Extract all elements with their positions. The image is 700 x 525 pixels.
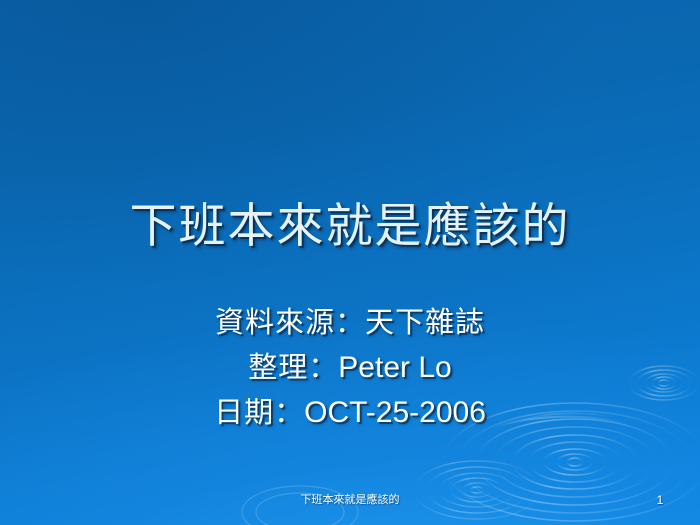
slide-footer-text: 下班本來就是應該的 xyxy=(0,492,700,508)
presentation-slide: 下班本來就是應該的 資料來源：天下雜誌 整理：Peter Lo 日期：OCT-2… xyxy=(0,0,700,525)
slide-background-vignette xyxy=(0,0,700,525)
slide-number: 1 xyxy=(648,492,672,508)
subtitle-date-value: OCT-25-2006 xyxy=(304,396,486,429)
subtitle-line-date: 日期：OCT-25-2006 xyxy=(0,390,700,435)
subtitle-author-prefix: 整理： xyxy=(248,350,338,384)
subtitle-date-prefix: 日期： xyxy=(214,395,304,429)
subtitle-line-author: 整理：Peter Lo xyxy=(0,345,700,390)
slide-title: 下班本來就是應該的 xyxy=(0,196,700,258)
subtitle-author-name: Peter Lo xyxy=(338,351,451,384)
slide-subtitle-block: 資料來源：天下雜誌 整理：Peter Lo 日期：OCT-25-2006 xyxy=(0,300,700,435)
subtitle-line-source: 資料來源：天下雜誌 xyxy=(0,300,700,345)
